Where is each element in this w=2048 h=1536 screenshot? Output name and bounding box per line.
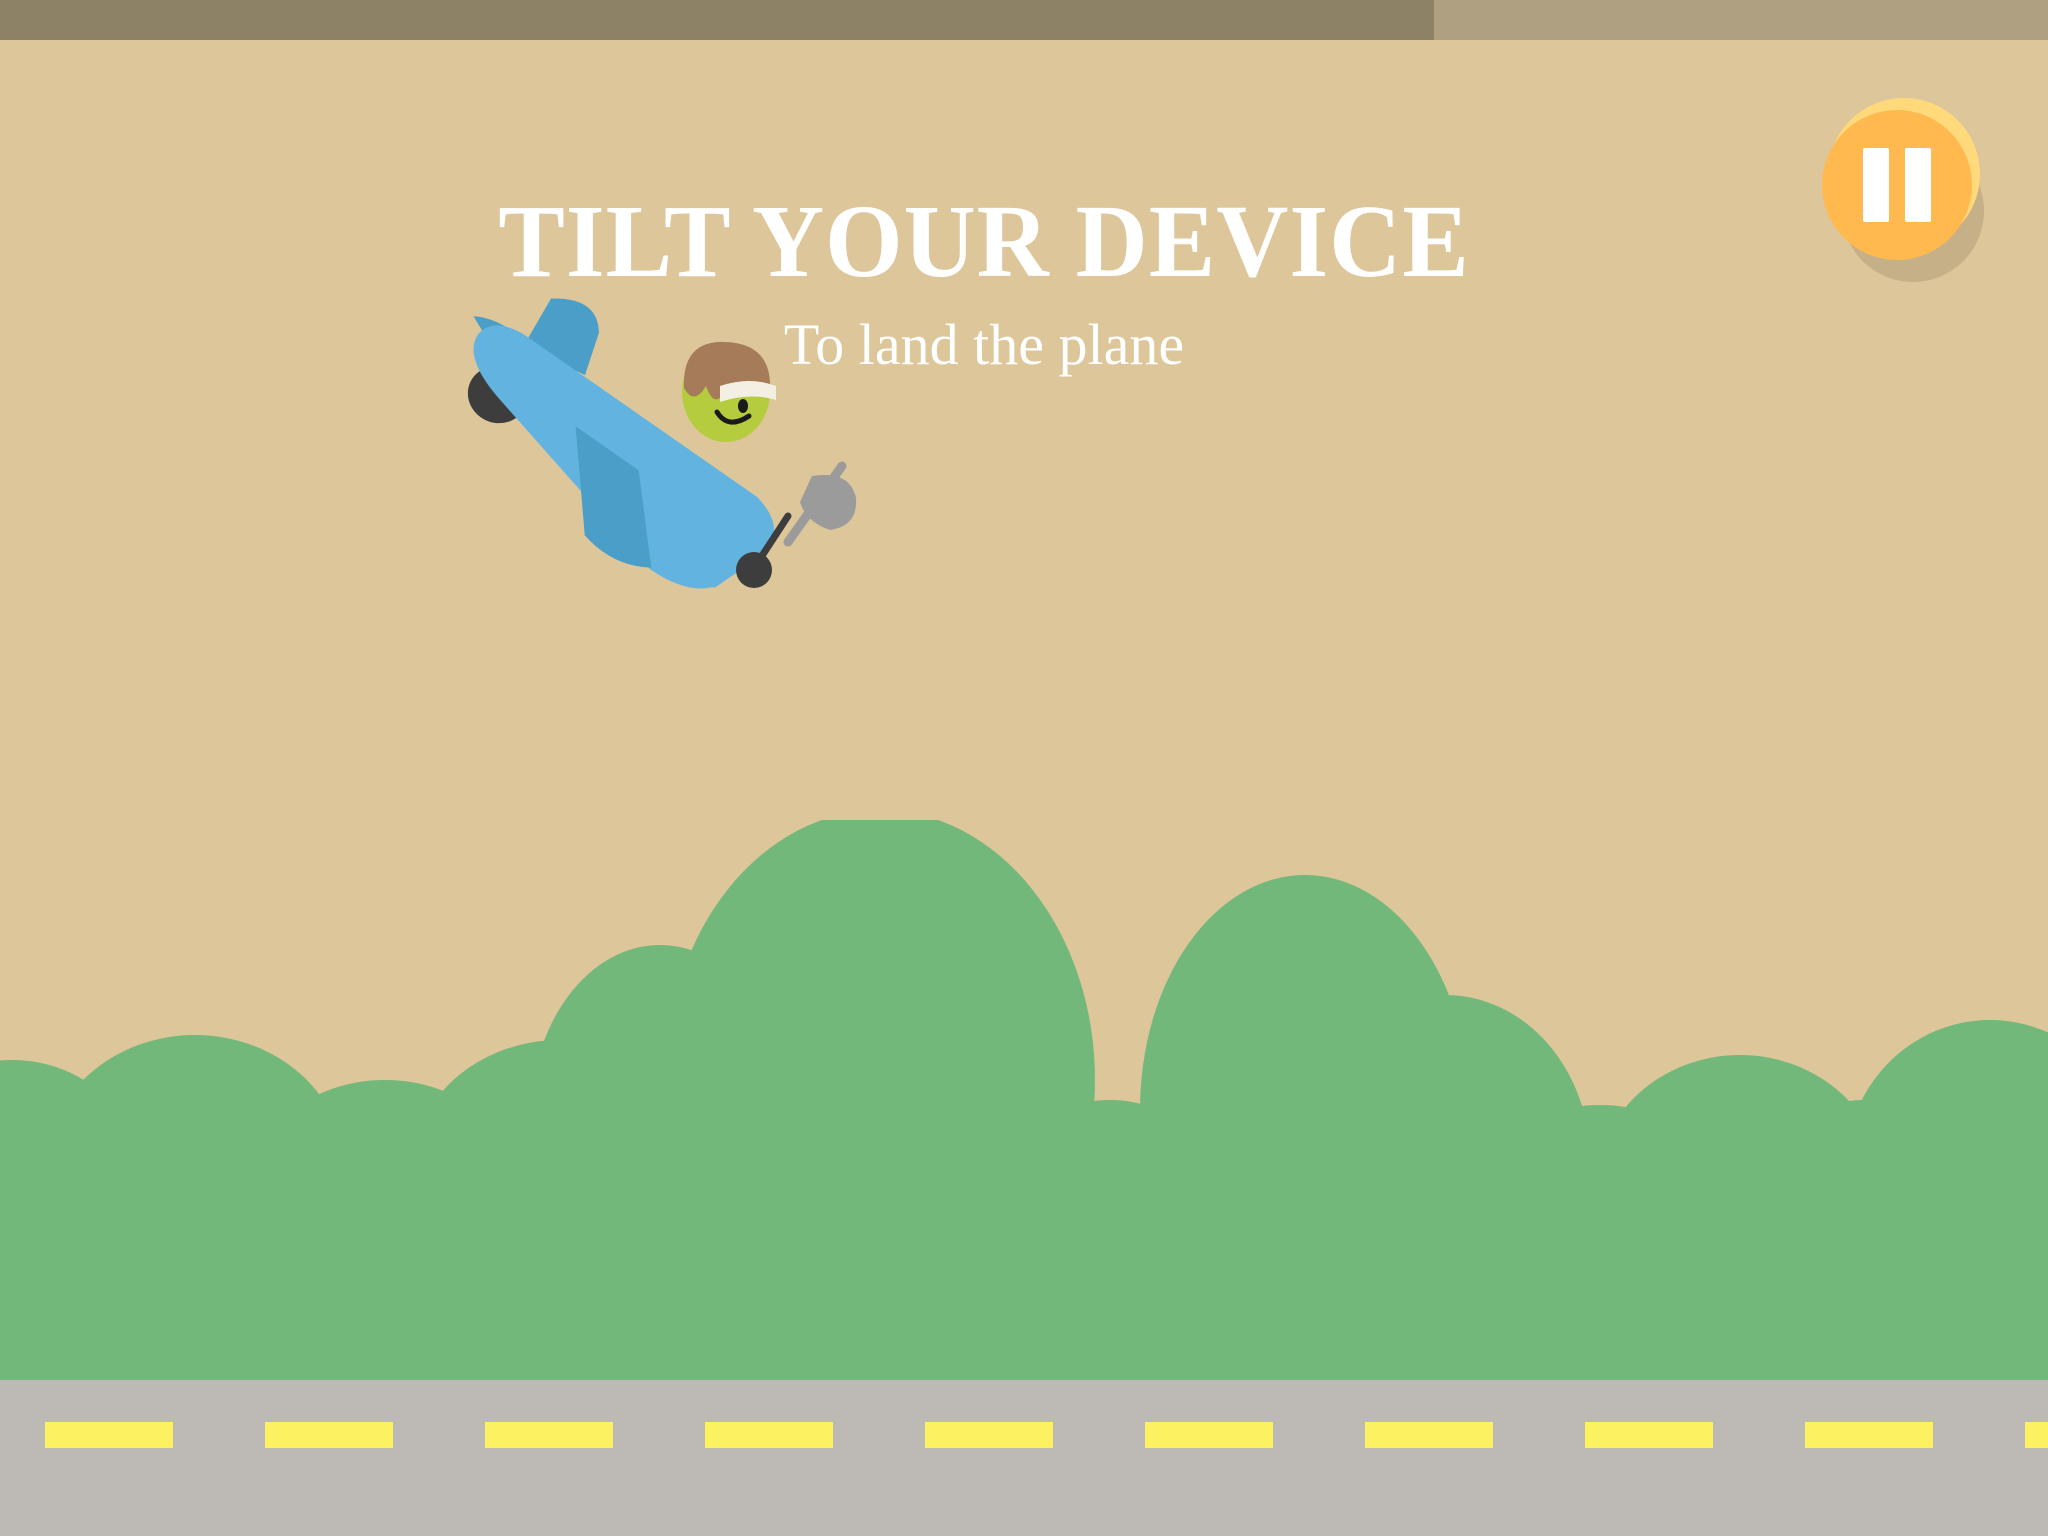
- road-dash: [925, 1422, 1053, 1448]
- road-dash: [2025, 1422, 2048, 1448]
- road-dash: [1585, 1422, 1713, 1448]
- status-bar-left-segment: [0, 0, 1434, 40]
- pause-bar-left: [1863, 148, 1889, 222]
- road-dash-row: [0, 1422, 2048, 1448]
- road-dash: [1805, 1422, 1933, 1448]
- road-dash: [45, 1422, 173, 1448]
- runway-road: [0, 1380, 2048, 1536]
- pause-button[interactable]: [1822, 98, 1998, 274]
- pause-icon: [1822, 110, 1972, 260]
- road-dash: [1365, 1422, 1493, 1448]
- road-dash: [1145, 1422, 1273, 1448]
- sky-background: [0, 40, 2048, 1536]
- game-screen: TILT YOUR DEVICE To land the plane: [0, 0, 2048, 1536]
- road-dash: [485, 1422, 613, 1448]
- status-bar-right-segment: [1434, 0, 2048, 40]
- road-dash: [705, 1422, 833, 1448]
- road-dash: [265, 1422, 393, 1448]
- status-bar: [0, 0, 2048, 40]
- pause-bar-right: [1905, 148, 1931, 222]
